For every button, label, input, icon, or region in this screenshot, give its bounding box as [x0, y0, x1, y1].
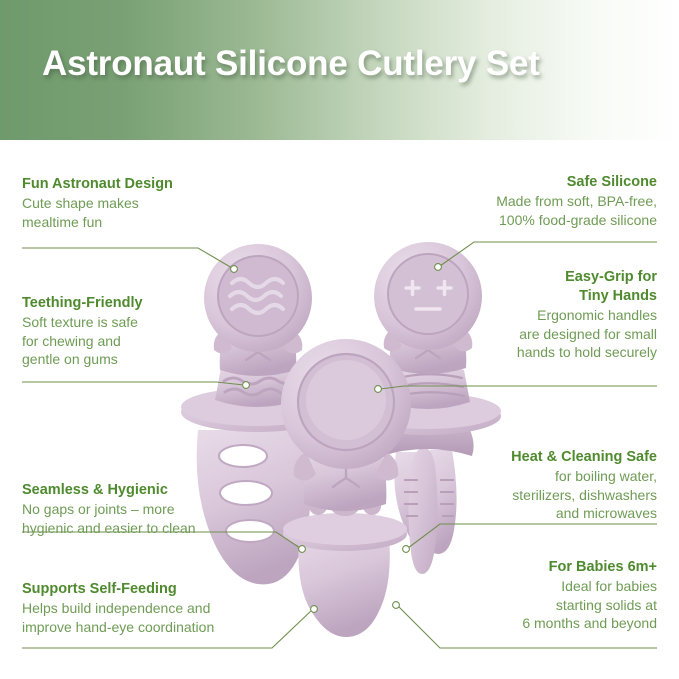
callout-body-line: 100% food-grade silicone [377, 211, 657, 230]
callout-heading: Teething-Friendly [22, 294, 282, 312]
callout-body-line: are designed for small [377, 325, 657, 344]
callout-body-line: sterilizers, dishwashers [377, 486, 657, 505]
callout-heading: Fun Astronaut Design [22, 175, 282, 193]
callout-for-babies-6m: For Babies 6m+ Ideal for babies starting… [377, 558, 657, 633]
callout-heading: Heat & Cleaning Safe [377, 448, 657, 466]
callout-body-line: for chewing and [22, 332, 282, 351]
callout-body-line: Ergonomic handles [377, 306, 657, 325]
callout-heading: Safe Silicone [377, 173, 657, 191]
callout-heading: Easy-Grip for [377, 268, 657, 286]
callout-body-line: for boiling water, [377, 467, 657, 486]
callout-safe-silicone: Safe Silicone Made from soft, BPA-free, … [377, 173, 657, 229]
callout-easy-grip-tiny-hands: Easy-Grip for Tiny Hands Ergonomic handl… [377, 268, 657, 362]
callout-body-line: 6 months and beyond [377, 614, 657, 633]
callout-body-line: No gaps or joints – more [22, 500, 302, 519]
callout-body-line: starting solids at [377, 596, 657, 615]
callout-body-line: gentle on gums [22, 350, 282, 369]
callout-body-line: and microwaves [377, 504, 657, 523]
callout-heading: For Babies 6m+ [377, 558, 657, 576]
callout-body-line: Made from soft, BPA-free, [377, 192, 657, 211]
callout-heading: Seamless & Hygienic [22, 481, 302, 499]
callout-body-line: Helps build independence and [22, 599, 312, 618]
callout-heading: Tiny Hands [377, 287, 657, 305]
callout-seamless-hygienic: Seamless & Hygienic No gaps or joints – … [22, 481, 302, 537]
callout-body-line: Soft texture is safe [22, 313, 282, 332]
callout-teething-friendly: Teething-Friendly Soft texture is safe f… [22, 294, 282, 369]
callout-body-line: hygienic and easier to clean [22, 519, 302, 538]
callout-fun-astronaut-design: Fun Astronaut Design Cute shape makes me… [22, 175, 282, 231]
callout-body-line: mealtime fun [22, 213, 282, 232]
infographic-canvas: Astronaut Silicone Cutlery Set [0, 0, 679, 679]
callout-body-line: hands to hold securely [377, 343, 657, 362]
callout-supports-self-feeding: Supports Self-Feeding Helps build indepe… [22, 580, 312, 636]
callout-body-line: Cute shape makes [22, 194, 282, 213]
callout-heat-cleaning-safe: Heat & Cleaning Safe for boiling water, … [377, 448, 657, 523]
callout-body-line: improve hand-eye coordination [22, 618, 312, 637]
callout-heading: Supports Self-Feeding [22, 580, 312, 598]
callout-body-line: Ideal for babies [377, 577, 657, 596]
